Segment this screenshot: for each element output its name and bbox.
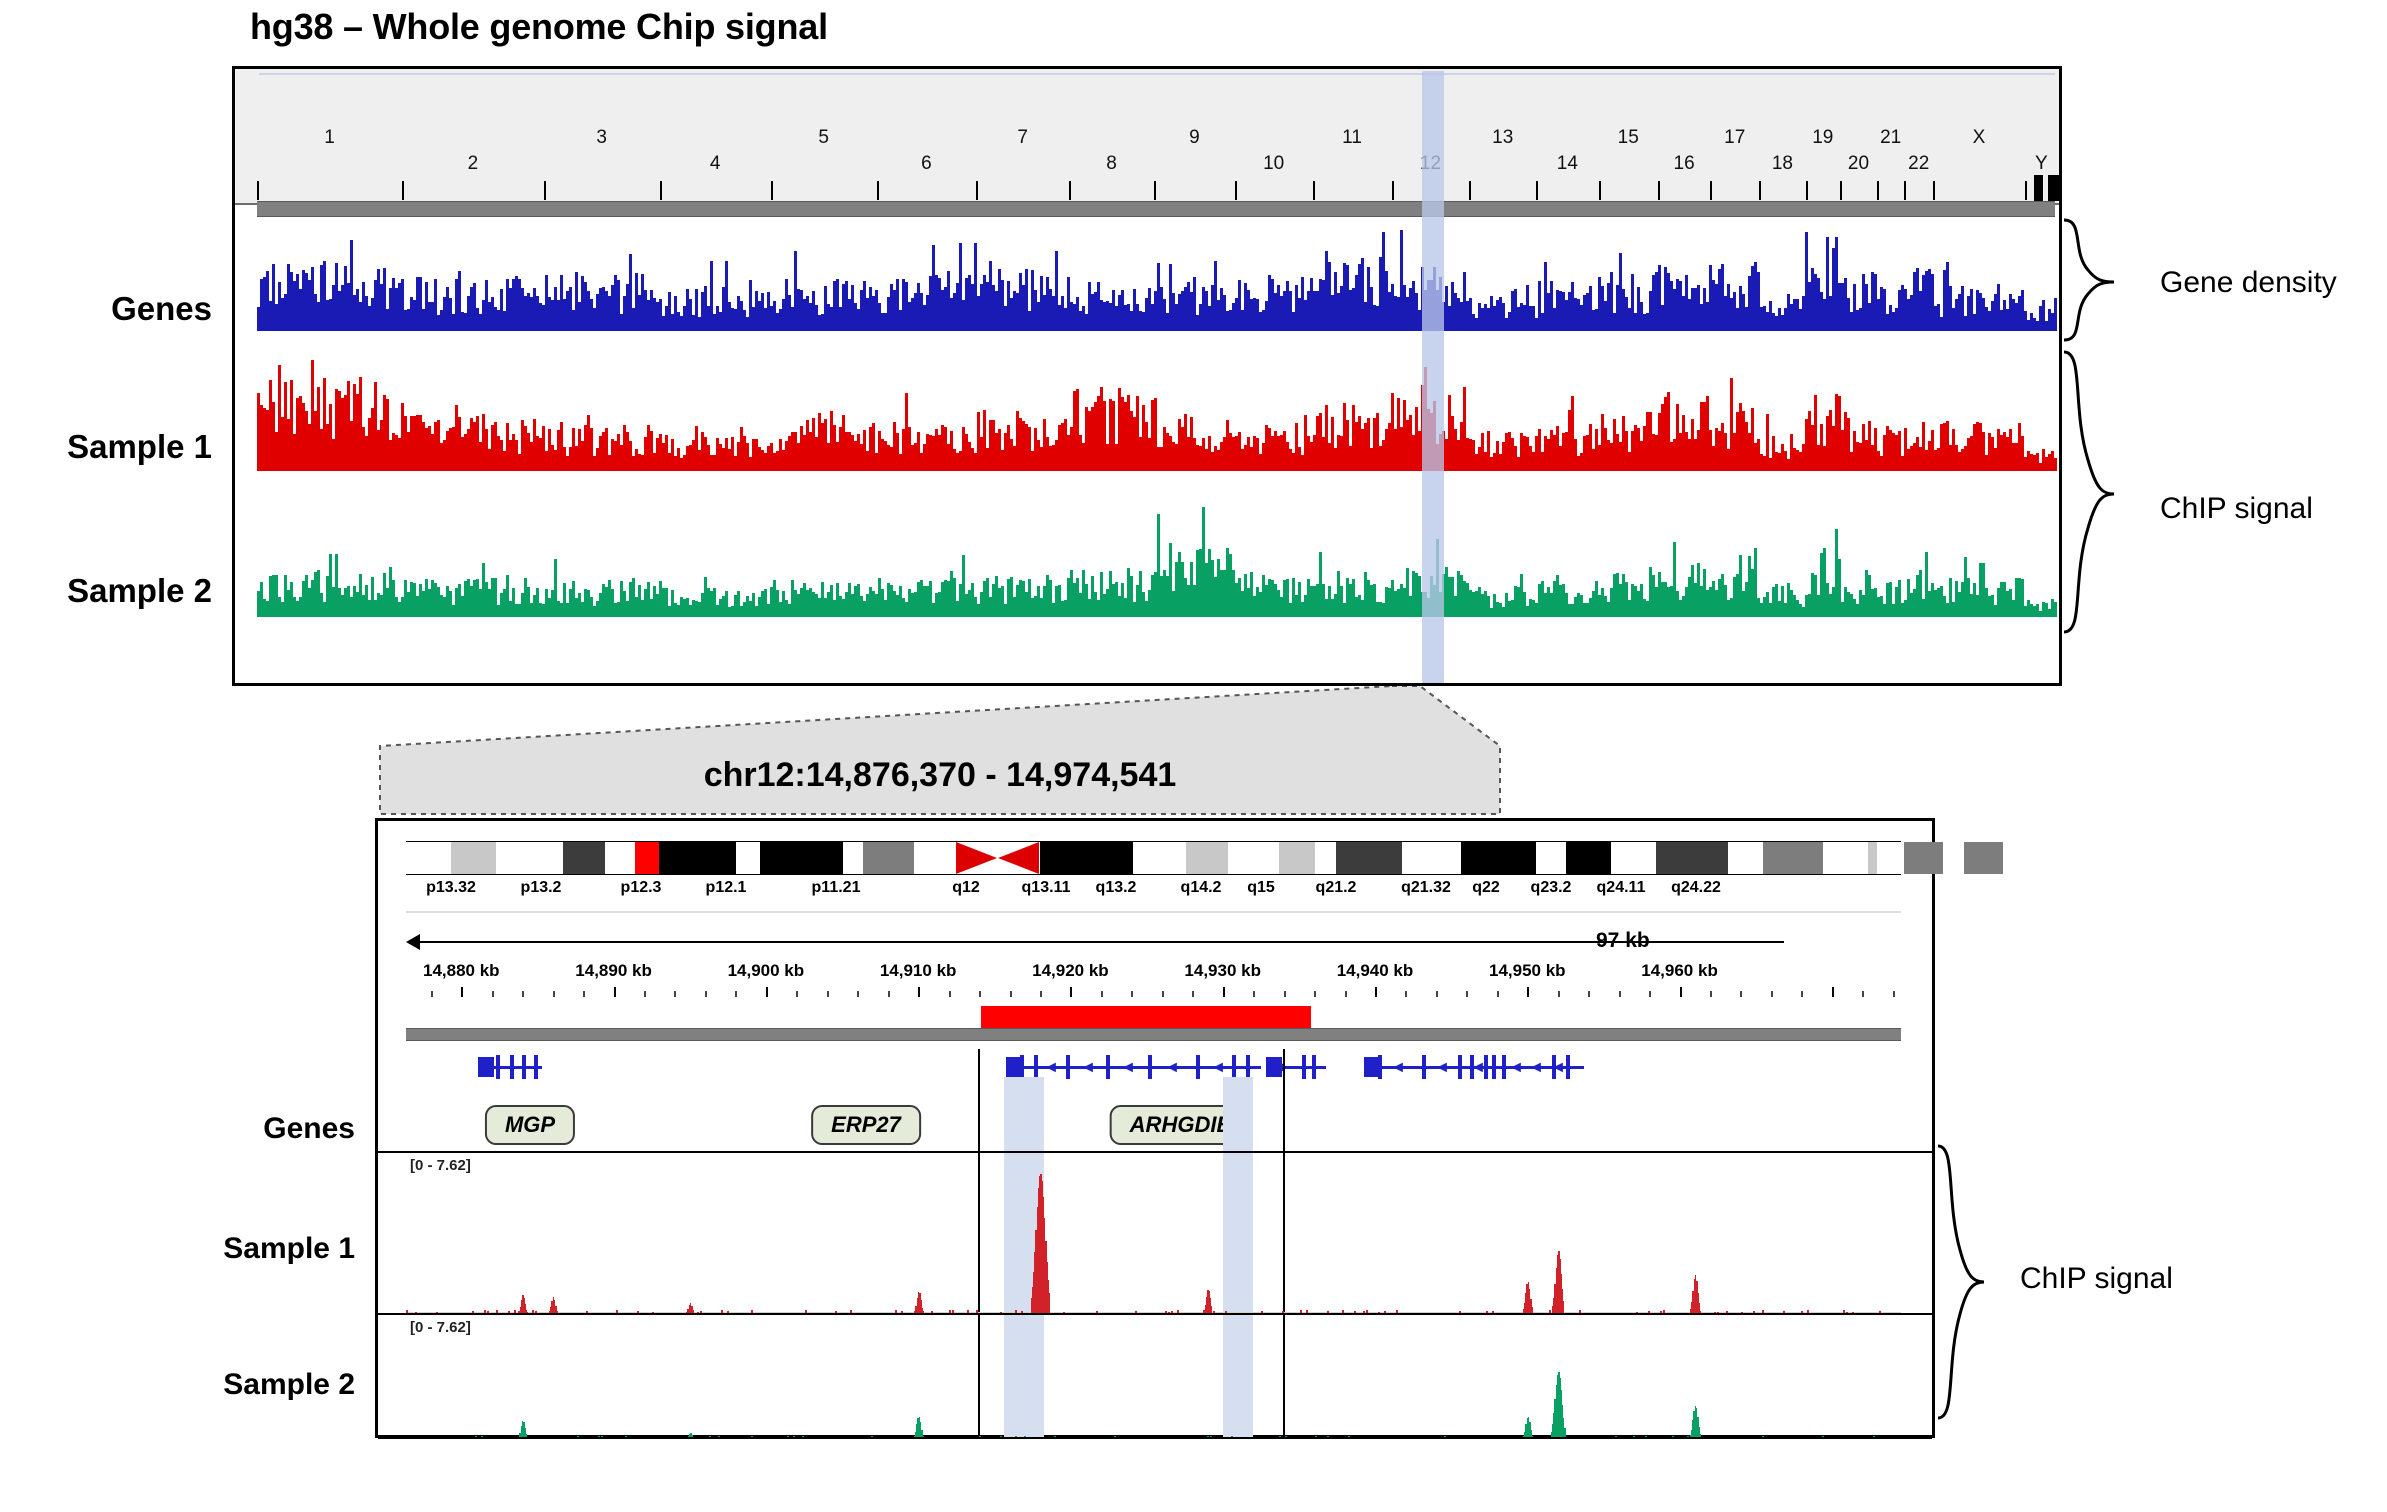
chromosome-tick-7 [976, 181, 978, 200]
gene-exon [1106, 1055, 1110, 1079]
cytoband-segment [760, 842, 842, 874]
ruler-minor-tick [1314, 991, 1316, 997]
ruler-minor-tick [1040, 991, 1042, 997]
ruler-minor-tick [1649, 991, 1651, 997]
genome-row-label-sample1: Sample 1 [0, 428, 212, 466]
ruler-minor-tick [1710, 991, 1712, 997]
chromosome-label-11[interactable]: 11 [1342, 127, 1362, 149]
cytoband-segment [659, 842, 737, 874]
chromosome-tick-19 [1806, 181, 1808, 200]
ruler-tick-label: 14,950 kb [1489, 961, 1566, 981]
ruler-minor-tick [857, 991, 859, 997]
centromere-marker [956, 842, 997, 874]
sample1-data-range-label: [0 - 7.62] [410, 1157, 471, 1174]
chromosome-tick-3 [544, 181, 546, 200]
gene-exon [1422, 1055, 1426, 1079]
gene-exon [1196, 1055, 1200, 1079]
cytoband-segment [1402, 842, 1462, 874]
cytoband-label-q21.32: q21.32 [1401, 879, 1451, 897]
cytoband-segment [1823, 842, 1868, 874]
chromosome-label-X[interactable]: X [1973, 127, 1986, 149]
ruler-tick-label: 14,920 kb [1032, 961, 1109, 981]
cytoband-segment [1763, 842, 1823, 874]
ruler-minor-tick [979, 991, 981, 997]
gene-strand-arrow: ◄ [1164, 1060, 1180, 1076]
ruler-minor-tick [1740, 991, 1742, 997]
cytoband-segment [1904, 842, 1943, 874]
chromosome-label-5[interactable]: 5 [818, 127, 829, 149]
chromosome-label-6[interactable]: 6 [921, 153, 932, 175]
signal-bar [1211, 1306, 1213, 1313]
detail-track-sample1[interactable]: [0 - 7.62] [406, 1155, 1901, 1313]
cytoband-segment [1336, 842, 1402, 874]
gene-exon [522, 1055, 526, 1079]
chromosome-label-9[interactable]: 9 [1189, 127, 1200, 149]
chromosome-tick-Y [2025, 181, 2027, 200]
cytoband-segment [914, 842, 956, 874]
ruler-minor-tick [492, 991, 494, 997]
chromosome-label-19[interactable]: 19 [1812, 127, 1833, 149]
chromosome-tick-8 [1069, 181, 1071, 200]
gene-exon [510, 1055, 514, 1079]
signal-bar [2054, 298, 2057, 331]
signal-bar [2054, 458, 2057, 471]
coordinate-ruler[interactable]: 97 kb 14,880 kb14,890 kb14,900 kb14,910 … [406, 929, 1901, 995]
cytoband-label-q13.2: q13.2 [1096, 879, 1137, 897]
ruler-minor-tick [888, 991, 890, 997]
chromosome-tick-5 [771, 181, 773, 200]
cytoband-label-q15: q15 [1247, 879, 1275, 897]
ruler-minor-tick [1558, 991, 1560, 997]
gene-exon [496, 1055, 500, 1079]
genome-reference-bar [257, 201, 2055, 217]
gene-strand-arrow: ◄ [1210, 1060, 1226, 1076]
genome-row-label-sample2: Sample 2 [0, 572, 212, 610]
ruler-minor-tick [522, 991, 524, 997]
chromosome-label-4[interactable]: 4 [710, 153, 721, 175]
ruler-minor-tick [796, 991, 798, 997]
gene-exon [1302, 1055, 1306, 1079]
chromosome-label-21[interactable]: 21 [1880, 127, 1901, 149]
ruler-minor-tick [1345, 991, 1347, 997]
cytoband-label-p12.3: p12.3 [621, 879, 662, 897]
genome-row-label-genes: Genes [0, 290, 212, 328]
gene-model-track[interactable]: ◄◄◄◄◄◄◄◄◄◄◄◄ MGPERP27ARHGDIB [406, 1049, 1901, 1091]
ruler-tick-label: 14,960 kb [1641, 961, 1718, 981]
cytoband-segment [1943, 842, 1964, 874]
cytoband-label-q22: q22 [1472, 879, 1500, 897]
ruler-tick-label: 14,940 kb [1337, 961, 1414, 981]
chromosome-label-7[interactable]: 7 [1017, 127, 1028, 149]
ruler-minor-tick [705, 991, 707, 997]
chromosome-label-15[interactable]: 15 [1618, 127, 1639, 149]
cytoband-segment [736, 842, 760, 874]
gene-exon [1502, 1055, 1506, 1079]
ruler-major-tick [614, 987, 616, 997]
cytoband-segment [1315, 842, 1336, 874]
cytoband-segment [496, 842, 563, 874]
region-bar-row[interactable] [406, 1006, 1901, 1030]
cytoband-segment [644, 842, 659, 874]
gene-exon [1566, 1055, 1570, 1079]
signal-bar [2054, 602, 2057, 617]
ruler-minor-tick [674, 991, 676, 997]
ruler-minor-tick [1893, 991, 1895, 997]
chromosome-label-1[interactable]: 1 [324, 127, 335, 149]
cytoband-label-p13.32: p13.32 [426, 879, 476, 897]
region-of-interest-bar[interactable] [981, 1006, 1311, 1028]
chromosome-tick-14 [1536, 181, 1538, 200]
gene-name-chip-ERP27[interactable]: ERP27 [811, 1105, 921, 1145]
cytoband-ideogram[interactable]: p13.32p13.2p12.3p12.1p11.21q12q13.11q13.… [406, 841, 1901, 875]
chromosome-tick-12 [1392, 181, 1394, 200]
cytoband-segment [1536, 842, 1566, 874]
cytoband-segment [1133, 842, 1187, 874]
cytoband-label-q23.2: q23.2 [1531, 879, 1572, 897]
cytoband-segment [1040, 842, 1133, 874]
sample2-data-range-label: [0 - 7.62] [410, 1319, 471, 1336]
cytoband-segment [843, 842, 864, 874]
cytoband-segment [1186, 842, 1228, 874]
signal-bar [1049, 1293, 1051, 1313]
chromosome-label-20[interactable]: 20 [1848, 153, 1869, 175]
gene-strand-arrow: ◄ [1080, 1060, 1096, 1076]
ruler-minor-tick [1284, 991, 1286, 997]
ruler-minor-tick [1101, 991, 1103, 997]
cytoband-current-marker [635, 842, 644, 874]
chromosome-label-10[interactable]: 10 [1263, 153, 1284, 175]
gene-exon [1034, 1055, 1038, 1079]
ruler-minor-tick [827, 991, 829, 997]
ruler-minor-tick [1253, 991, 1255, 997]
reference-sequence-bar [406, 1028, 1901, 1041]
ruler-minor-tick [1192, 991, 1194, 997]
chromosome-12-highlight[interactable] [1422, 71, 1444, 683]
gene-strand-arrow: ◄ [1434, 1060, 1450, 1076]
gene-exon [1020, 1055, 1024, 1079]
cytoband-segment [1279, 842, 1315, 874]
ruler-minor-tick [1862, 991, 1864, 997]
gene-exon [1232, 1055, 1236, 1079]
ruler-tick-label: 14,890 kb [575, 961, 652, 981]
chromosome-tick-22 [1904, 181, 1906, 200]
genome-brace-group [2062, 212, 2152, 692]
chromosome-label-3[interactable]: 3 [596, 127, 607, 149]
gene-exon [1246, 1055, 1250, 1079]
ruler-minor-tick [1162, 991, 1164, 997]
chromosome-tick-18 [1759, 181, 1761, 200]
ruler-minor-tick [1588, 991, 1590, 997]
ruler-minor-tick [583, 991, 585, 997]
cytoband-segment [863, 842, 914, 874]
gene-name-chip-MGP[interactable]: MGP [485, 1105, 575, 1145]
ruler-minor-tick [1497, 991, 1499, 997]
cytoband-segment [1461, 842, 1536, 874]
detail-locus-title: chr12:14,876,370 - 14,974,541 [380, 748, 1500, 802]
cytoband-segment [1877, 842, 1904, 874]
gene-exon [1492, 1055, 1496, 1079]
cytoband-segment [563, 842, 605, 874]
track-separator-middle [378, 1313, 1932, 1315]
genome-track-sample1[interactable] [257, 337, 2055, 471]
ruler-minor-tick [1619, 991, 1621, 997]
cytoband-segment [1566, 842, 1611, 874]
ruler-major-tick [1070, 987, 1072, 997]
ruler-major-tick [1375, 987, 1377, 997]
chromosome-tick-4 [660, 181, 662, 200]
ruler-minor-tick [1436, 991, 1438, 997]
ruler-minor-tick [1131, 991, 1133, 997]
chromosome-label-2[interactable]: 2 [468, 153, 479, 175]
gene-strand-arrow: ◄ [1550, 1060, 1566, 1076]
cytoband-label-q14.2: q14.2 [1181, 879, 1222, 897]
cytoband-segment [451, 842, 496, 874]
chromosome-tick-16 [1658, 181, 1660, 200]
ruler-minor-tick [1801, 991, 1803, 997]
ruler-span-line [414, 941, 1784, 943]
cytoband-segment [1868, 842, 1877, 874]
ruler-major-tick [1527, 987, 1529, 997]
chromosome-ideogram-strip[interactable]: 12345678910111213141516171819202122XY [235, 69, 2059, 205]
chromosome-tick-17 [1710, 181, 1712, 200]
track-separator-top [378, 1151, 1932, 1153]
ruler-tick-label: 14,880 kb [423, 961, 500, 981]
cytoband-label-q12: q12 [952, 879, 980, 897]
chromosome-tick-6 [877, 181, 879, 200]
cytoband-label-p11.21: p11.21 [812, 879, 861, 897]
ruler-major-tick [461, 987, 463, 997]
gene-exon [1148, 1055, 1152, 1079]
gene-exon [534, 1055, 538, 1079]
detail-bracket-label-chip-signal: ChIP signal [2020, 1262, 2173, 1296]
chromosome-label-22[interactable]: 22 [1908, 153, 1929, 175]
gene-exon [1378, 1055, 1382, 1079]
detail-row-label-genes: Genes [140, 1112, 355, 1146]
chromosome-label-13[interactable]: 13 [1492, 127, 1513, 149]
cytoband-label-p13.2: p13.2 [521, 879, 562, 897]
genome-track-gene-density[interactable] [257, 219, 2055, 331]
ruler-minor-tick [1405, 991, 1407, 997]
gene-strand-arrow: ◄ [1470, 1060, 1486, 1076]
cytoband-label-q13.11: q13.11 [1022, 879, 1071, 897]
ruler-minor-tick [644, 991, 646, 997]
gene-exon [1066, 1055, 1070, 1079]
gene-exon [1458, 1055, 1462, 1079]
page-title: hg38 – Whole genome Chip signal [250, 6, 828, 48]
chromosome-label-8[interactable]: 8 [1106, 153, 1117, 175]
cytoband-segment [1656, 842, 1728, 874]
cytoband-divider [406, 911, 1901, 913]
chromosome-tick-21 [1877, 181, 1879, 200]
chromosome-label-14[interactable]: 14 [1557, 153, 1578, 175]
ruler-minor-tick [1466, 991, 1468, 997]
ruler-major-tick [766, 987, 768, 997]
cytoband-segment [1728, 842, 1764, 874]
gene-strand-arrow: ◄ [1508, 1060, 1524, 1076]
centromere-marker [998, 842, 1039, 874]
ruler-minor-tick [553, 991, 555, 997]
gene-strand-arrow: ◄ [1528, 1060, 1544, 1076]
ruler-tick-label: 14,910 kb [880, 961, 957, 981]
cytoband-label-q21.2: q21.2 [1316, 879, 1357, 897]
genome-bracket-label-gene-density: Gene density [2160, 266, 2337, 300]
cytoband-segment [2003, 842, 2057, 874]
ruler-span-label: 97 kb [1596, 929, 1650, 953]
ruler-tick-label: 14,930 kb [1184, 961, 1261, 981]
chromosome-tick-20 [1840, 181, 1842, 200]
chromosome-label-18[interactable]: 18 [1772, 153, 1793, 175]
ruler-major-tick [1223, 987, 1225, 997]
detail-brace [1936, 1140, 2016, 1450]
ruler-minor-tick [949, 991, 951, 997]
detail-row-label-sample2: Sample 2 [140, 1368, 355, 1402]
genome-track-sample2[interactable] [257, 487, 2055, 617]
chromosome-tick-1 [257, 181, 259, 200]
ruler-minor-tick [431, 991, 433, 997]
chromosome-label-16[interactable]: 16 [1674, 153, 1695, 175]
whole-genome-panel[interactable]: 12345678910111213141516171819202122XY [232, 66, 2062, 686]
detail-panel[interactable]: p13.32p13.2p12.3p12.1p11.21q12q13.11q13.… [375, 818, 1935, 1438]
chromosome-label-17[interactable]: 17 [1724, 127, 1745, 149]
ruler-major-tick [1832, 987, 1834, 997]
ruler-minor-tick [1010, 991, 1012, 997]
cytoband-segment [1611, 842, 1656, 874]
chromosome-tick-X [1933, 181, 1935, 200]
detail-track-sample2[interactable]: [0 - 7.62] [406, 1317, 1901, 1439]
detail-row-label-sample1: Sample 1 [140, 1232, 355, 1266]
cytoband-label-q24.11: q24.11 [1597, 879, 1646, 897]
ruler-minor-tick [1771, 991, 1773, 997]
ruler-major-tick [1680, 987, 1682, 997]
chromosome-tick-15 [1599, 181, 1601, 200]
chromosome-end-block-1 [2034, 175, 2043, 201]
genome-bracket-label-chip-signal: ChIP signal [2160, 492, 2313, 526]
gene-strand-arrow: ◄ [1120, 1060, 1136, 1076]
chromosome-tick-13 [1469, 181, 1471, 200]
gene-strand-arrow: ◄ [1390, 1060, 1406, 1076]
chromosome-end-block-2 [2048, 175, 2062, 201]
gene-strand-arrow: ◄ [1043, 1060, 1059, 1076]
gene-exon [1312, 1055, 1316, 1079]
gene-strand-arrow: ◄ [1272, 1060, 1288, 1076]
cytoband-segment [1964, 842, 2003, 874]
gene-utr-block [478, 1057, 494, 1077]
ruler-major-tick [918, 987, 920, 997]
ruler-tick-label: 14,900 kb [728, 961, 805, 981]
track-separator-bottom [378, 1437, 1932, 1439]
cytoband-segment [1228, 842, 1279, 874]
chromosome-tick-11 [1313, 181, 1315, 200]
cytoband-label-p12.1: p12.1 [706, 879, 747, 897]
ruler-minor-tick [735, 991, 737, 997]
chromosome-tick-2 [402, 181, 404, 200]
chromosome-tick-9 [1154, 181, 1156, 200]
cytoband-label-q24.22: q24.22 [1671, 879, 1721, 897]
chromosome-tick-10 [1235, 181, 1237, 200]
chromosome-label-Y[interactable]: Y [2035, 153, 2048, 175]
cytoband-segment [406, 842, 451, 874]
